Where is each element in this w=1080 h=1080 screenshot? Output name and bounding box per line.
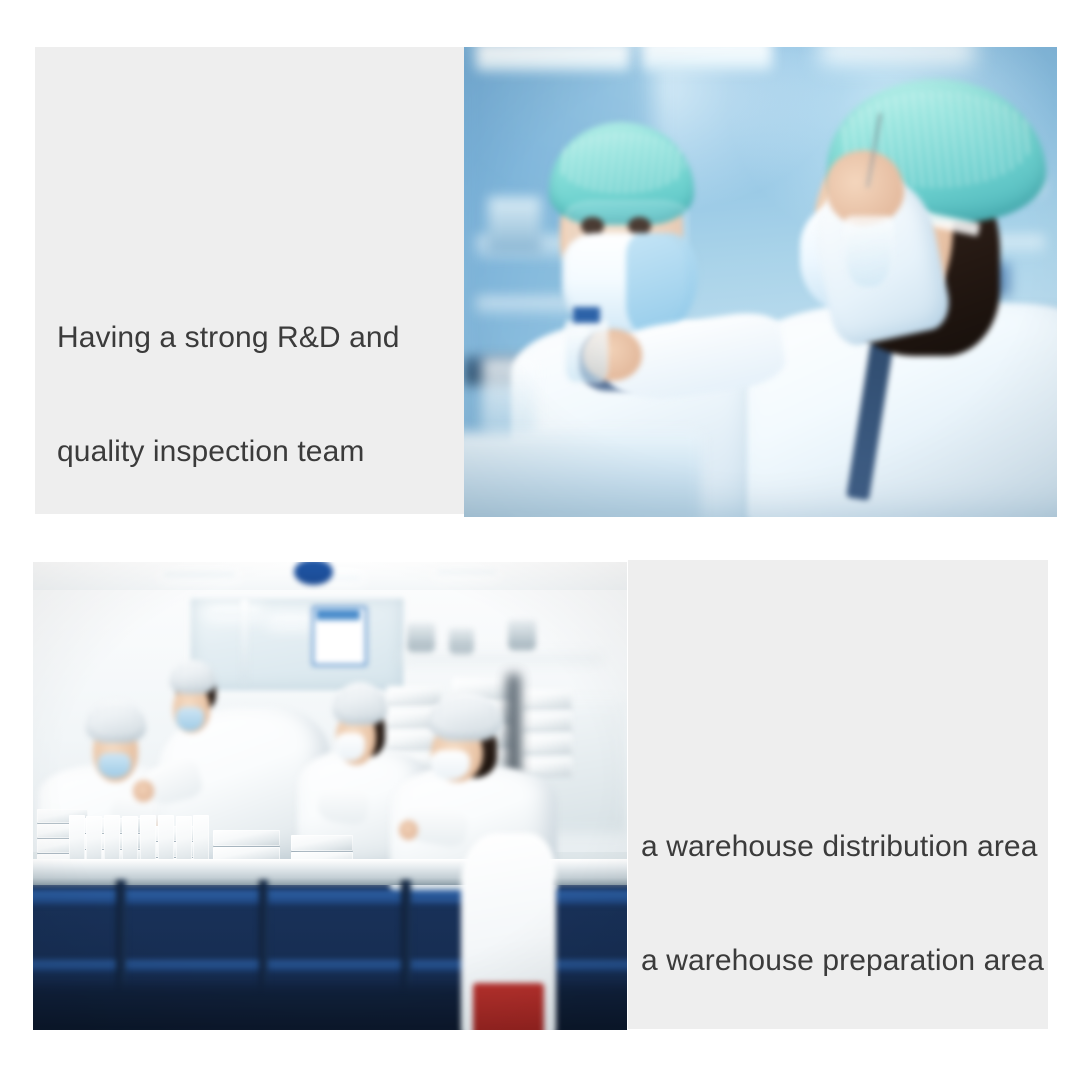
lab-bench-front <box>464 432 701 517</box>
window-inner-light-1 <box>211 609 259 616</box>
bottom-caption: a warehouse distribution area a warehous… <box>641 752 1041 1018</box>
bottom-caption-line-1: a warehouse distribution area <box>641 828 1041 866</box>
top-caption-line-1: Having a strong R&D and <box>57 319 457 357</box>
worker-hairnet <box>86 700 146 743</box>
ceiling-light-3 <box>437 568 496 575</box>
warehouse-scene <box>33 562 627 1030</box>
steel-pot-2 <box>449 628 474 655</box>
top-caption-line-2: quality inspection team <box>57 433 457 471</box>
worker-hand <box>399 820 418 841</box>
top-caption: Having a strong R&D and quality inspecti… <box>57 243 457 509</box>
worker-mask <box>176 707 204 731</box>
carton <box>291 835 354 851</box>
wall-shelf <box>401 654 603 661</box>
lab-beaker <box>482 357 537 439</box>
foreground-worker-lower <box>473 983 544 1030</box>
lab-ceiling-light-2 <box>642 47 772 71</box>
lab-flask-raised <box>844 216 893 289</box>
worker-hairnet <box>333 682 387 725</box>
steel-pot-1 <box>407 623 434 653</box>
lab-ceiling-light-1 <box>476 47 630 71</box>
worker-mask <box>336 733 365 761</box>
notice-board-header <box>316 609 360 620</box>
lab-quality-inspection-photo <box>464 47 1057 517</box>
bottom-caption-line-2: a warehouse preparation area <box>641 942 1041 980</box>
worker-hairnet <box>170 660 216 694</box>
ceiling-light-1 <box>164 569 235 576</box>
worker-hairnet <box>429 692 503 741</box>
window-inner-light-2 <box>271 618 313 624</box>
lab-scene <box>464 47 1057 517</box>
warehouse-packing-photo <box>33 562 627 1030</box>
lab-sample-bottle <box>565 320 609 383</box>
lab-ceiling-light-3 <box>820 47 974 66</box>
steel-pot-3 <box>508 620 535 651</box>
